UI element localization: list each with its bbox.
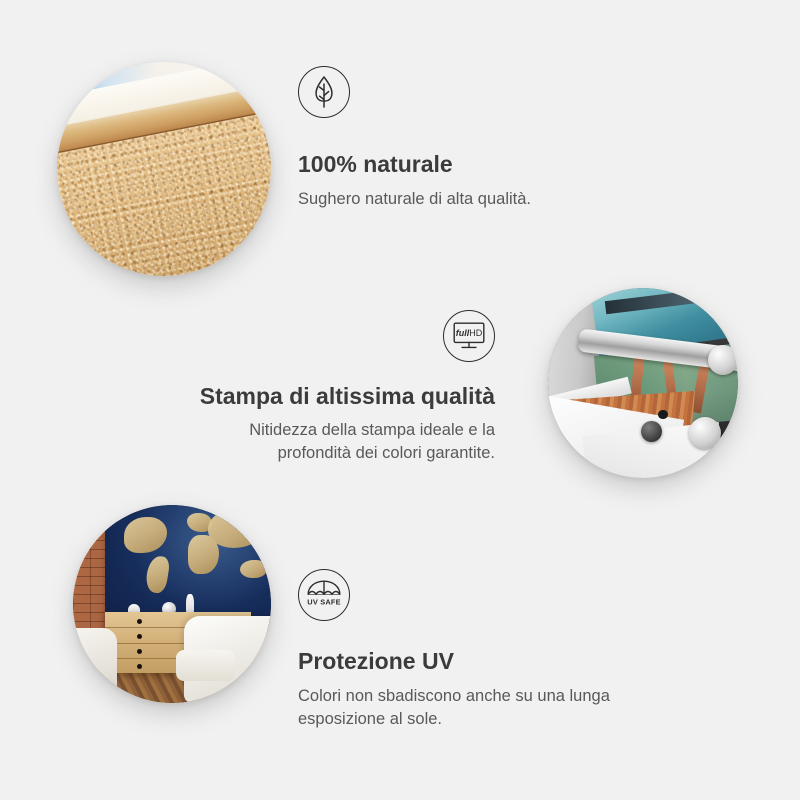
interior-photo-armchair-right-arm xyxy=(176,650,235,682)
uv-safe-icon-wrapper: UV SAFE xyxy=(298,569,678,621)
leaf-icon-glyph xyxy=(309,75,339,109)
cork-material-photo xyxy=(57,62,271,276)
uv-safe-icon-label: UV SAFE xyxy=(307,597,340,606)
feature-description-uv-line-2: esposizione al sole. xyxy=(298,710,442,728)
feature-description-print-line-1: Nitidezza della stampa ideale e la xyxy=(249,421,495,439)
interior-photo-armchair-left xyxy=(73,628,117,703)
leaf-icon xyxy=(298,66,350,118)
map-continent-south-america xyxy=(145,554,172,593)
product-features-banner: 100% naturale Sughero naturale di alta q… xyxy=(0,0,800,800)
feature-title-uv-protection: Protezione UV xyxy=(298,647,678,676)
feature-description-uv-protection: Colori non sbadiscono anche su una lunga… xyxy=(298,685,678,732)
feature-description-print-quality: Nitidezza della stampa ideale e la profo… xyxy=(180,419,495,466)
printing-machine-photo xyxy=(548,288,738,478)
map-continent-australia xyxy=(240,560,267,578)
feature-title-print-quality: Stampa di altissima qualità xyxy=(180,382,495,411)
feature-description-natural: Sughero naturale di alta qualità. xyxy=(298,188,598,211)
printer-photo-roller-knob-small xyxy=(641,421,662,442)
uv-safe-umbrella-icon: UV SAFE xyxy=(298,569,350,621)
fullhd-icon-label-full: fullHD xyxy=(456,328,483,338)
map-continent-north-america xyxy=(124,517,167,554)
feature-description-uv-line-1: Colori non sbadiscono anche su una lunga xyxy=(298,687,610,705)
feature-description-print-line-2: profondità dei colori garantite. xyxy=(278,444,495,462)
printer-photo-black-bolt xyxy=(658,410,668,420)
printer-photo-inner xyxy=(548,288,738,478)
feature-block-uv-protection: UV SAFE Protezione UV Colori non sbadisc… xyxy=(298,569,678,732)
feature-title-natural: 100% naturale xyxy=(298,150,598,179)
uv-safe-umbrella-icon-glyph: UV SAFE xyxy=(305,579,343,611)
map-continent-asia xyxy=(208,509,265,548)
fullhd-icon-label-hd: HD xyxy=(469,328,482,338)
interior-world-map-photo xyxy=(73,505,271,703)
dresser-knob-3 xyxy=(137,649,142,654)
interior-photo-inner xyxy=(73,505,271,703)
dresser-knob-4 xyxy=(137,664,142,669)
fullhd-monitor-icon-glyph: fullHD xyxy=(452,321,486,351)
dresser-knob-2 xyxy=(137,634,142,639)
fullhd-monitor-icon-wrapper: fullHD xyxy=(180,310,495,362)
dresser-knob-1 xyxy=(137,619,142,624)
cork-photo-inner xyxy=(57,62,271,276)
leaf-icon-wrapper xyxy=(298,66,598,118)
feature-block-print-quality: fullHD Stampa di altissima qualità Nitid… xyxy=(180,310,495,466)
feature-block-natural: 100% naturale Sughero naturale di alta q… xyxy=(298,66,598,211)
fullhd-monitor-icon: fullHD xyxy=(443,310,495,362)
